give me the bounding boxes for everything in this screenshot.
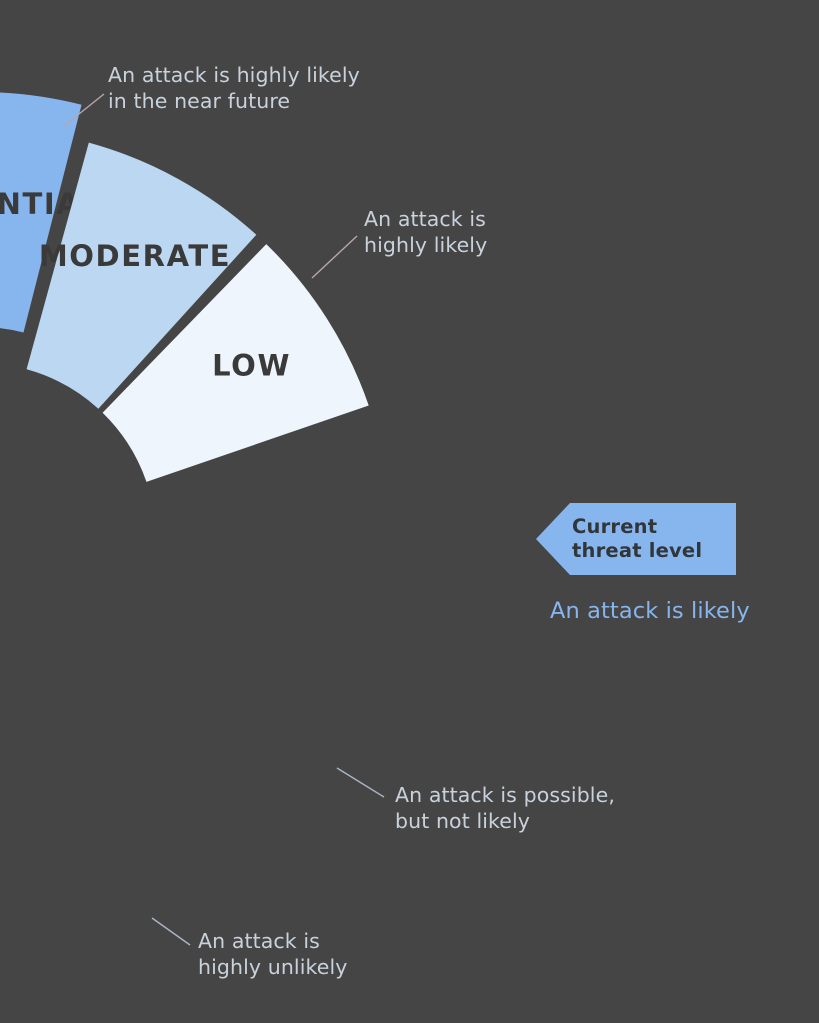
- threat-level-diagram: CRITICAL SEVERE SUBSTANTIAL MODERATE LOW…: [0, 0, 819, 1023]
- badge-label: Current threat level: [572, 515, 702, 563]
- leader-line-low: [152, 918, 190, 945]
- annotation-low: An attack is highly unlikely: [198, 928, 348, 980]
- annotation-critical: An attack is highly likely in the near f…: [108, 62, 360, 114]
- segment-moderate-label: MODERATE: [39, 239, 231, 273]
- current-threat-level-badge[interactable]: Current threat level: [536, 503, 736, 575]
- segment-low-label: LOW: [212, 349, 291, 383]
- leader-line-severe: [312, 236, 357, 278]
- annotation-moderate: An attack is possible, but not likely: [395, 782, 615, 834]
- annotation-severe: An attack is highly likely: [364, 206, 487, 258]
- leader-line-moderate: [337, 768, 384, 797]
- current-threat-description: An attack is likely: [550, 598, 750, 624]
